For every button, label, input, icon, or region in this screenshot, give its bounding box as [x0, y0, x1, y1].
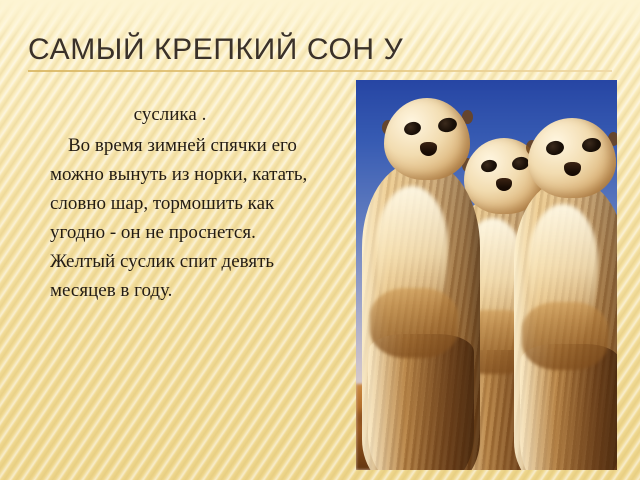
meerkat-right: [514, 118, 617, 470]
meerkat-left: [362, 98, 480, 470]
meerkat-head: [528, 118, 616, 198]
body-paragraph: Во время зимней спячки его можно вынуть …: [10, 131, 330, 305]
page-title: Самый крепкий сон у: [28, 34, 612, 66]
meerkat-head: [384, 98, 470, 180]
meerkat-arms: [522, 302, 608, 370]
slide-canvas: Самый крепкий сон у суслика . Во время з…: [0, 0, 640, 480]
lead-line: суслика .: [10, 100, 330, 129]
title-underline-rule: [28, 70, 612, 72]
body-text-column: суслика . Во время зимней спячки его мож…: [10, 100, 330, 305]
meerkat-photo: [356, 80, 617, 470]
slide-title-block: Самый крепкий сон у: [28, 34, 612, 66]
meerkat-arms: [370, 288, 458, 358]
